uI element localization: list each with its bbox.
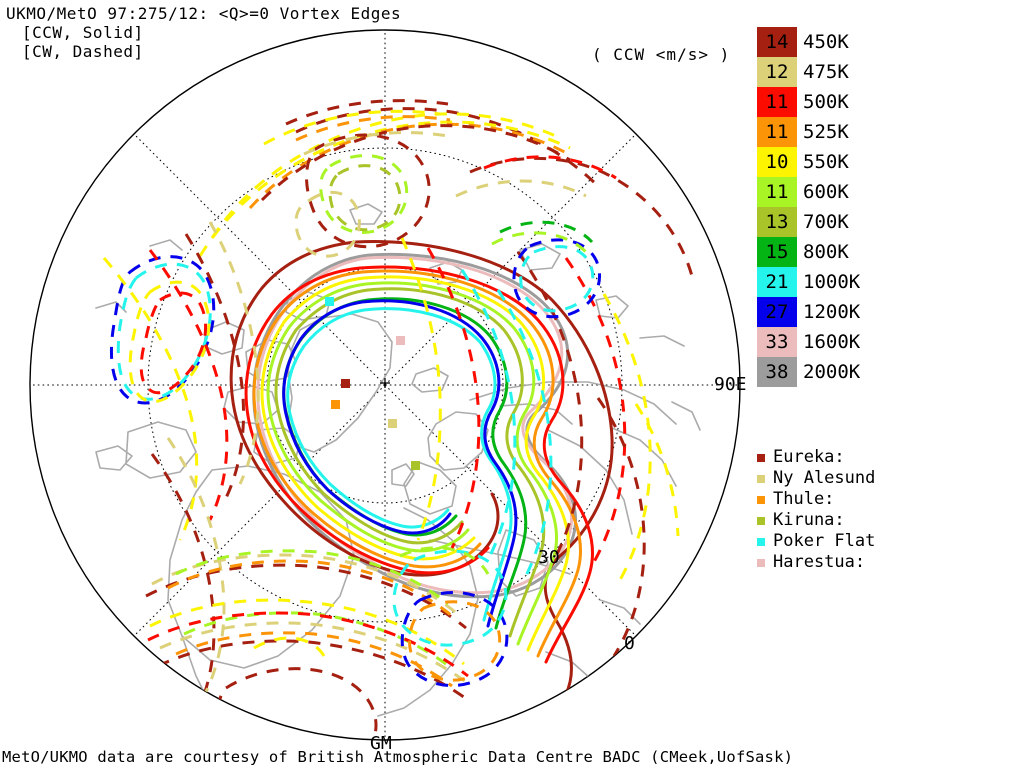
- colorbar-row: 11 600K: [757, 177, 797, 207]
- station-legend-label: Eureka:: [773, 447, 845, 467]
- colorbar-level: 1600K: [803, 327, 860, 357]
- colorbar-level: 2000K: [803, 357, 860, 387]
- colorbar-value: 10: [757, 147, 797, 177]
- station-legend-label: Harestua:: [773, 552, 865, 572]
- station-legend-label: Poker Flat: [773, 531, 875, 551]
- polar-stereographic-map: 90E 30 0 GM: [0, 0, 780, 768]
- colorbar-value: 33: [757, 327, 797, 357]
- longitude-label-30: 30: [538, 547, 560, 568]
- colorbar-level: 550K: [803, 147, 849, 177]
- colorbar-legend: 14 450K 12 475K 11 500K 11 525K 10 550K …: [757, 27, 797, 387]
- station-legend-label: Ny Alesund: [773, 468, 875, 488]
- colorbar-row: 27 1200K: [757, 297, 797, 327]
- colorbar-row: 15 800K: [757, 237, 797, 267]
- data-credit: MetO/UKMO data are courtesy of British A…: [2, 748, 793, 766]
- station-legend-swatch: [757, 517, 765, 525]
- colorbar-value: 14: [757, 27, 797, 57]
- colorbar-row: 21 1000K: [757, 267, 797, 297]
- station-marker-poker-flat: [325, 297, 334, 306]
- colorbar-value: 21: [757, 267, 797, 297]
- colorbar-level: 450K: [803, 27, 849, 57]
- station-legend-swatch: [757, 559, 765, 567]
- colorbar-level: 475K: [803, 57, 849, 87]
- colorbar-value: 38: [757, 357, 797, 387]
- colorbar-row: 11 500K: [757, 87, 797, 117]
- station-marker-harestua: [396, 336, 405, 345]
- colorbar-row: 11 525K: [757, 117, 797, 147]
- colorbar-row: 10 550K: [757, 147, 797, 177]
- colorbar-value: 13: [757, 207, 797, 237]
- station-legend-swatch: [757, 538, 765, 546]
- colorbar-level: 525K: [803, 117, 849, 147]
- colorbar-value: 11: [757, 177, 797, 207]
- colorbar-value: 27: [757, 297, 797, 327]
- station-legend-swatch: [757, 496, 765, 504]
- colorbar-value: 15: [757, 237, 797, 267]
- colorbar-level: 600K: [803, 177, 849, 207]
- station-marker-eureka: [341, 379, 350, 388]
- colorbar-row: 33 1600K: [757, 327, 797, 357]
- longitude-label-90e: 90E: [714, 374, 747, 395]
- colorbar-level: 700K: [803, 207, 849, 237]
- longitude-label-0: 0: [624, 633, 635, 654]
- colorbar-row: 12 475K: [757, 57, 797, 87]
- station-markers: [325, 297, 420, 470]
- station-marker-kiruna: [411, 461, 420, 470]
- colorbar-row: 14 450K: [757, 27, 797, 57]
- station-marker-ny-alesund: [388, 419, 397, 428]
- colorbar-value: 12: [757, 57, 797, 87]
- colorbar-level: 1200K: [803, 297, 860, 327]
- pole-marker: [380, 378, 390, 388]
- colorbar-level: 500K: [803, 87, 849, 117]
- colorbar-level: 1000K: [803, 267, 860, 297]
- colorbar-level: 800K: [803, 237, 849, 267]
- colorbar-value: 11: [757, 87, 797, 117]
- colorbar-value: 11: [757, 117, 797, 147]
- colorbar-row: 38 2000K: [757, 357, 797, 387]
- station-marker-thule: [331, 400, 340, 409]
- station-legend-swatch: [757, 454, 765, 462]
- station-legend-label: Thule:: [773, 489, 834, 509]
- colorbar-row: 13 700K: [757, 207, 797, 237]
- station-legend-label: Kiruna:: [773, 510, 845, 530]
- station-legend-swatch: [757, 475, 765, 483]
